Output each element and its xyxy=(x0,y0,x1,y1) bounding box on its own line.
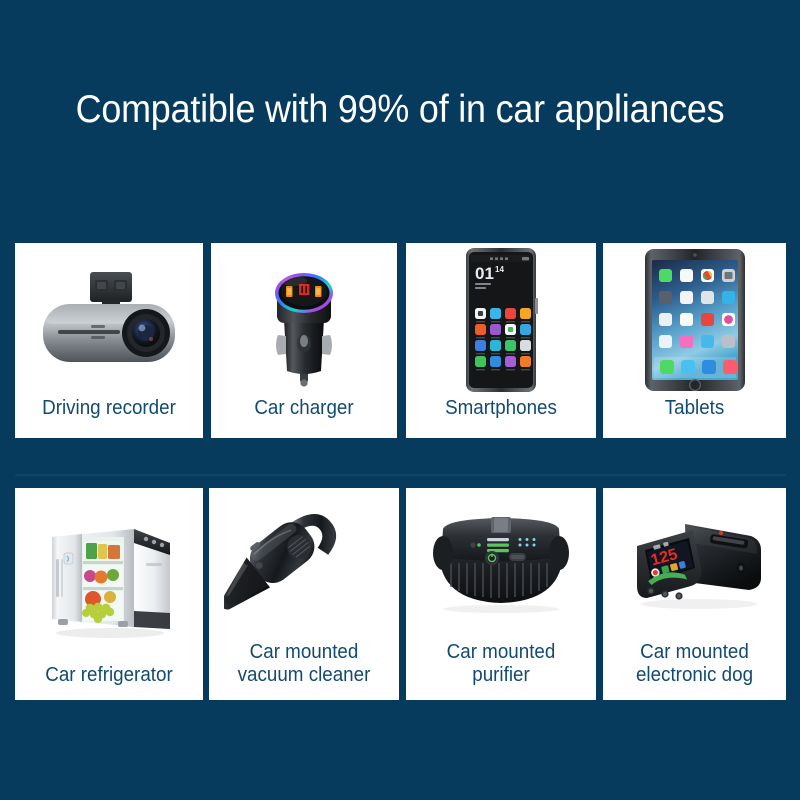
card-vacuum-cleaner[interactable]: Car mounted vacuum cleaner xyxy=(209,488,399,700)
card-smartphones[interactable]: 01 14 xyxy=(406,243,596,438)
card-label: Car refrigerator xyxy=(21,664,198,700)
radar-detector-icon: 125 xyxy=(603,488,786,641)
card-electronic-dog[interactable]: 125 xyxy=(603,488,786,700)
svg-text:14: 14 xyxy=(495,265,504,274)
card-label: Driving recorder xyxy=(21,397,198,438)
card-car-charger[interactable]: Car charger xyxy=(211,243,397,438)
card-tablets[interactable]: Tablets xyxy=(603,243,786,438)
card-label: Car mounted electronic dog xyxy=(608,641,780,700)
card-label: Tablets xyxy=(608,397,780,438)
car-charger-icon xyxy=(211,243,397,397)
card-driving-recorder[interactable]: Driving recorder xyxy=(15,243,203,438)
svg-text:01: 01 xyxy=(475,264,494,283)
air-purifier-icon xyxy=(406,488,596,641)
dashcam-icon xyxy=(15,243,203,397)
smartphone-icon: 01 14 xyxy=(406,243,596,397)
appliance-card-grid: Driving recorder xyxy=(0,0,800,800)
tablet-icon xyxy=(603,243,786,397)
mini-fridge-icon xyxy=(15,488,203,664)
card-label: Car charger xyxy=(217,397,392,438)
card-label: Smartphones xyxy=(412,397,591,438)
card-label: Car mounted vacuum cleaner xyxy=(215,641,394,700)
card-air-purifier[interactable]: Car mounted purifier xyxy=(406,488,596,700)
handheld-vacuum-icon xyxy=(209,488,399,641)
promo-banner: Compatible with 99% of in car appliances xyxy=(0,0,800,800)
card-car-refrigerator[interactable]: Car refrigerator xyxy=(15,488,203,700)
card-label: Car mounted purifier xyxy=(412,641,591,700)
